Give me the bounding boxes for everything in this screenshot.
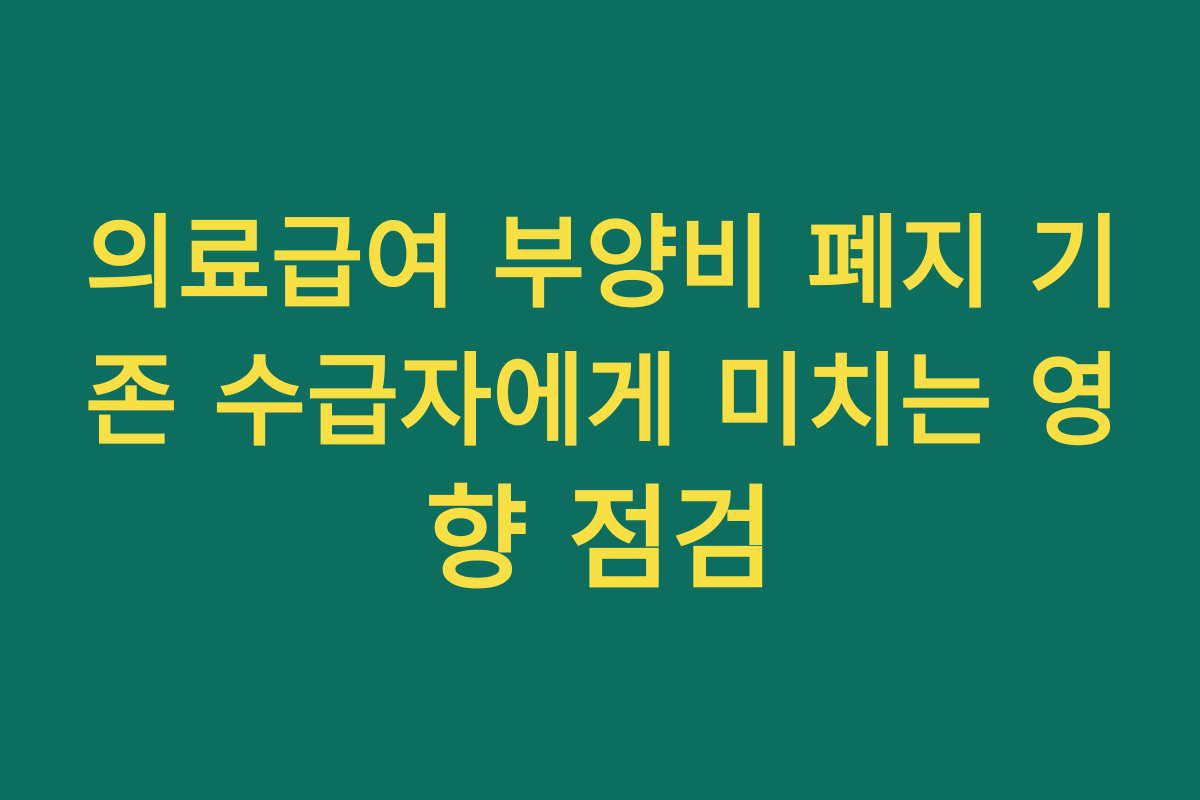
headline-text-block: 의료급여 부양비 폐지 기 존 수급자에게 미치는 영 향 점검 bbox=[85, 195, 1115, 609]
headline-card: 의료급여 부양비 폐지 기 존 수급자에게 미치는 영 향 점검 bbox=[0, 0, 1200, 800]
headline-line-2: 존 수급자에게 미치는 영 bbox=[85, 333, 1115, 471]
headline-line-3: 향 점검 bbox=[85, 471, 1115, 609]
headline-line-1: 의료급여 부양비 폐지 기 bbox=[85, 195, 1115, 333]
